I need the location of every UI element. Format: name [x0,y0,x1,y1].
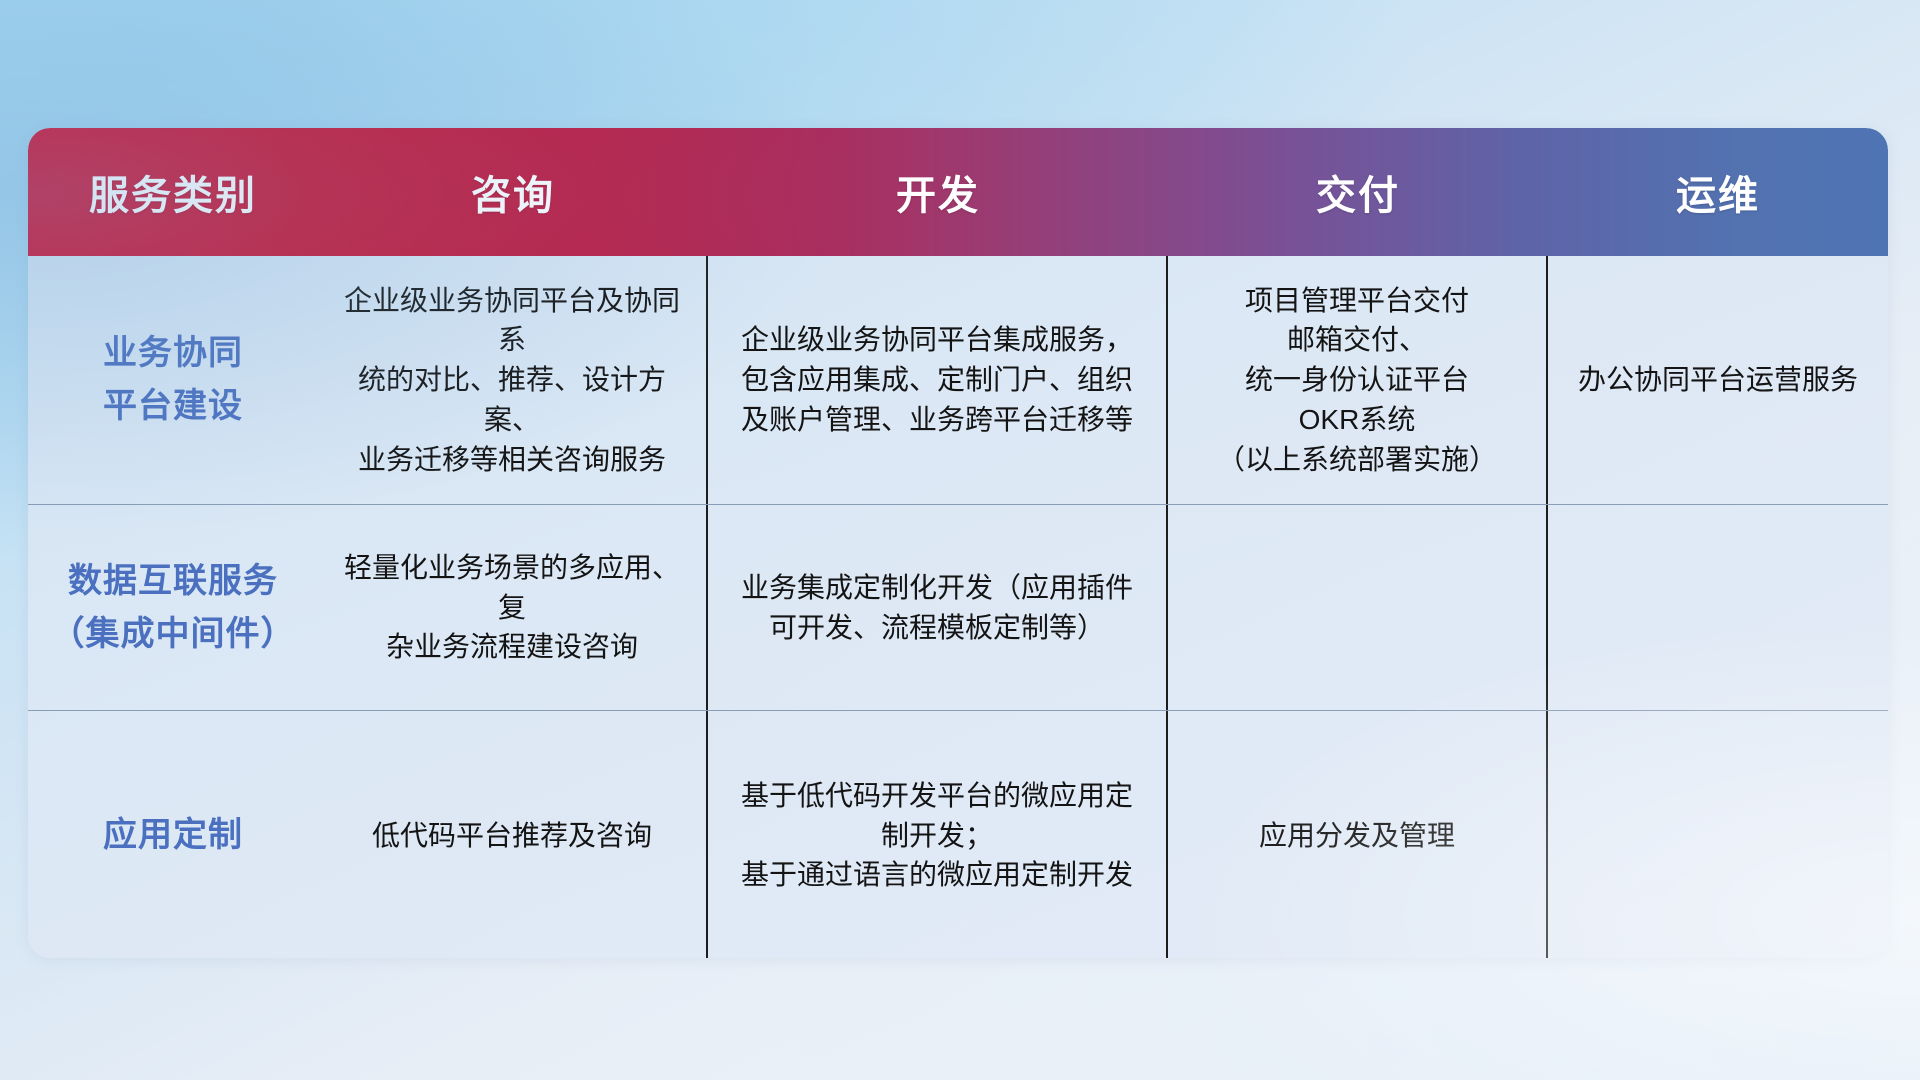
cell-operations: 办公协同平台运营服务 [1548,256,1888,504]
cell-development: 企业级业务协同平台集成服务， 包含应用集成、定制门户、组织 及账户管理、业务跨平… [708,256,1168,504]
row-label-text: 应用定制 [103,809,243,862]
column-header-development: 开发 [708,128,1168,256]
cell-delivery: 项目管理平台交付 邮箱交付、 统一身份认证平台 OKR系统 （以上系统部署实施） [1168,256,1548,504]
table-row: 数据互联服务 （集成中间件） 轻量化业务场景的多应用、复 杂业务流程建设咨询 业… [28,505,1888,711]
service-matrix-table: 服务类别 咨询 开发 交付 运维 业务协同 平台建设 企业级业务协同平台及协同系… [28,128,1888,958]
table-body: 业务协同 平台建设 企业级业务协同平台及协同系 统的对比、推荐、设计方案、 业务… [28,256,1888,958]
column-header-delivery: 交付 [1168,128,1548,256]
cell-delivery [1168,505,1548,710]
row-label-cell: 业务协同 平台建设 [28,256,318,504]
table-row: 业务协同 平台建设 企业级业务协同平台及协同系 统的对比、推荐、设计方案、 业务… [28,256,1888,505]
cell-operations [1548,505,1888,710]
table-header-row: 服务类别 咨询 开发 交付 运维 [28,128,1888,256]
column-header-operations: 运维 [1548,128,1888,256]
row-label-text: 数据互联服务 （集成中间件） [51,555,296,660]
cell-development: 基于低代码开发平台的微应用定 制开发； 基于通过语言的微应用定制开发 [708,711,1168,958]
row-label-cell: 数据互联服务 （集成中间件） [28,505,318,710]
table-row: 应用定制 低代码平台推荐及咨询 基于低代码开发平台的微应用定 制开发； 基于通过… [28,711,1888,958]
cell-operations [1548,711,1888,958]
cell-delivery: 应用分发及管理 [1168,711,1548,958]
cell-consulting: 企业级业务协同平台及协同系 统的对比、推荐、设计方案、 业务迁移等相关咨询服务 [318,256,708,504]
slide-canvas: 服务类别 咨询 开发 交付 运维 业务协同 平台建设 企业级业务协同平台及协同系… [0,0,1920,1080]
cell-consulting: 轻量化业务场景的多应用、复 杂业务流程建设咨询 [318,505,708,710]
row-label-text: 业务协同 平台建设 [103,327,243,432]
row-label-cell: 应用定制 [28,711,318,958]
cell-consulting: 低代码平台推荐及咨询 [318,711,708,958]
column-header-consulting: 咨询 [318,128,708,256]
cell-development: 业务集成定制化开发（应用插件 可开发、流程模板定制等） [708,505,1168,710]
column-header-category: 服务类别 [28,128,318,256]
